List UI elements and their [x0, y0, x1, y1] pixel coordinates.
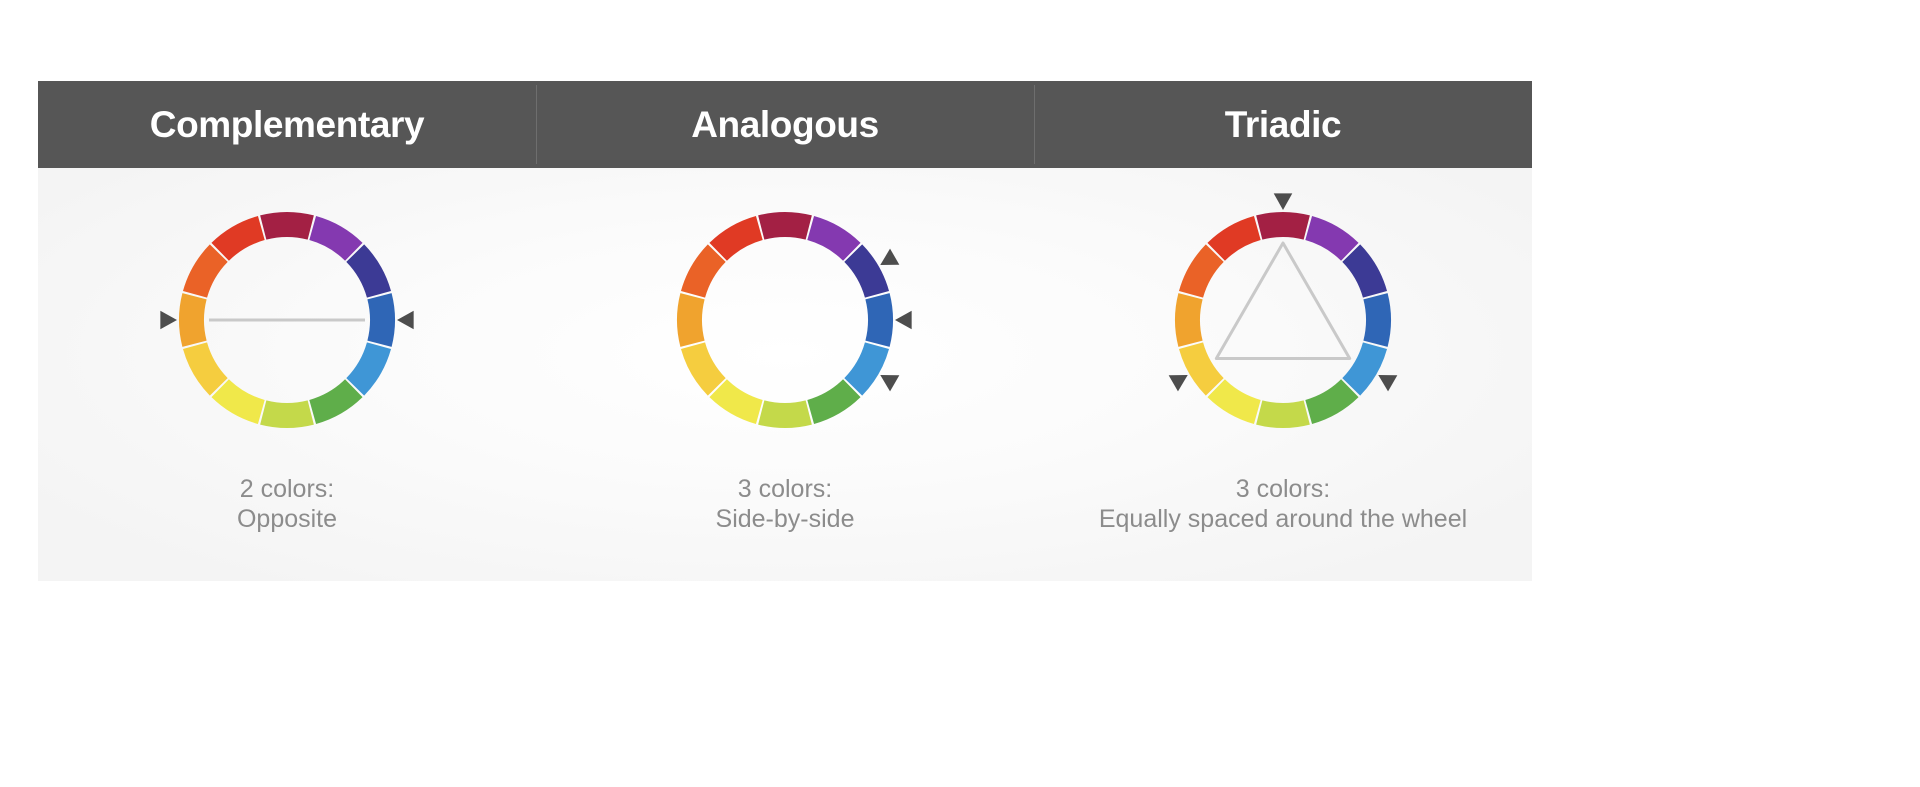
- triadic-guide-triangle: [1216, 243, 1349, 359]
- wheel-segment-orange-yellow[interactable]: [179, 293, 207, 347]
- wheel-marker-lower-right[interactable]: [1378, 375, 1397, 391]
- color-wheel-svg-triadic: [1153, 190, 1413, 450]
- column-title-complementary: Complementary: [150, 104, 424, 146]
- caption-line2-analogous: Side-by-side: [716, 504, 855, 534]
- caption-analogous: 3 colors: Side-by-side: [716, 474, 855, 534]
- header-cell-analogous: Analogous: [536, 81, 1034, 168]
- header-row: Complementary Analogous Triadic: [38, 81, 1532, 168]
- wheel-marker-lower[interactable]: [880, 375, 899, 391]
- color-wheel-triadic: [1153, 190, 1413, 450]
- caption-complementary: 2 colors: Opposite: [237, 474, 337, 534]
- column-title-analogous: Analogous: [691, 104, 879, 146]
- color-wheel-analogous: [655, 190, 915, 450]
- wheel-segment-crimson[interactable]: [1256, 212, 1310, 240]
- wheel-marker-lower-left[interactable]: [1169, 375, 1188, 391]
- body-row: 2 colors: Opposite 3 colors: Side-by-sid…: [38, 168, 1532, 581]
- wheel-segments-analogous: [677, 212, 893, 428]
- wheel-marker-left[interactable]: [160, 311, 177, 330]
- wheel-segment-yellow-green[interactable]: [1256, 400, 1310, 428]
- wheel-marker-mid[interactable]: [895, 311, 912, 330]
- caption-line2-triadic: Equally spaced around the wheel: [1099, 504, 1467, 534]
- wheel-segment-crimson[interactable]: [260, 212, 314, 240]
- header-cell-triadic: Triadic: [1034, 81, 1532, 168]
- column-complementary: 2 colors: Opposite: [38, 168, 536, 581]
- column-analogous: 3 colors: Side-by-side: [536, 168, 1034, 581]
- wheel-marker-right[interactable]: [397, 311, 414, 330]
- caption-line2-complementary: Opposite: [237, 504, 337, 534]
- column-title-triadic: Triadic: [1225, 104, 1341, 146]
- caption-line1-complementary: 2 colors:: [237, 474, 337, 504]
- color-wheel-svg-analogous: [655, 190, 915, 450]
- color-wheel-svg-complementary: [157, 190, 417, 450]
- wheel-segment-yellow-green[interactable]: [758, 400, 812, 428]
- wheel-marker-top[interactable]: [1274, 193, 1293, 210]
- wheel-segment-orange-yellow[interactable]: [677, 293, 705, 347]
- caption-triadic: 3 colors: Equally spaced around the whee…: [1099, 474, 1467, 534]
- diagram-root: Complementary Analogous Triadic: [0, 0, 1920, 787]
- caption-line1-analogous: 3 colors:: [716, 474, 855, 504]
- column-triadic: 3 colors: Equally spaced around the whee…: [1034, 168, 1532, 581]
- wheel-marker-upper[interactable]: [880, 249, 899, 265]
- wheel-segment-blue[interactable]: [865, 293, 893, 347]
- wheel-overlay-triadic: [1216, 243, 1349, 359]
- header-cell-complementary: Complementary: [38, 81, 536, 168]
- wheel-segment-blue[interactable]: [1363, 293, 1391, 347]
- wheel-segment-crimson[interactable]: [758, 212, 812, 240]
- wheel-segment-blue[interactable]: [367, 293, 395, 347]
- caption-line1-triadic: 3 colors:: [1099, 474, 1467, 504]
- wheel-segment-orange-yellow[interactable]: [1175, 293, 1203, 347]
- color-harmony-panel: Complementary Analogous Triadic: [38, 81, 1532, 581]
- wheel-segment-yellow-green[interactable]: [260, 400, 314, 428]
- color-wheel-complementary: [157, 190, 417, 450]
